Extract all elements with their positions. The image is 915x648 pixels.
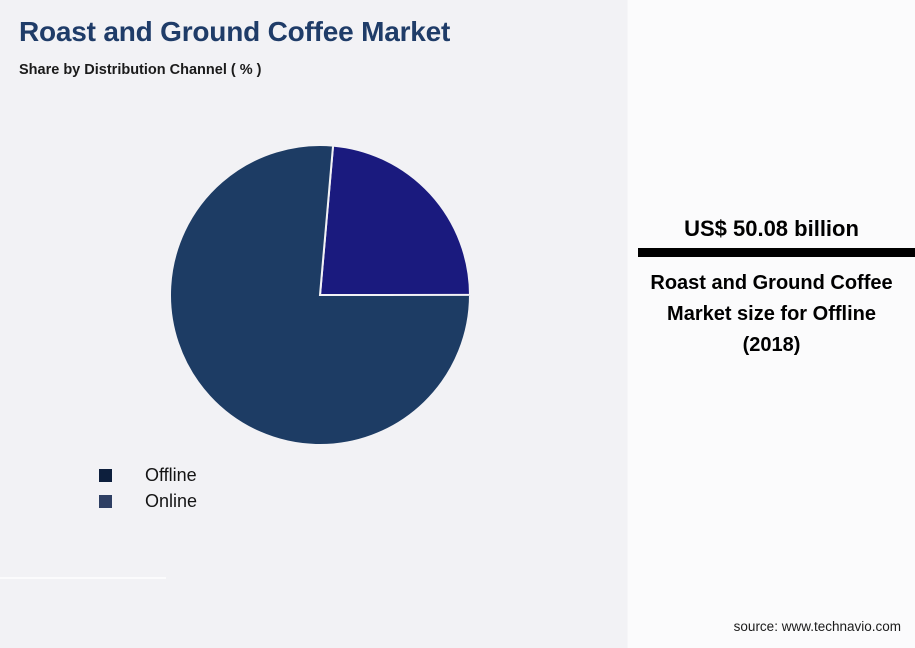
footer-divider <box>0 577 166 579</box>
chart-right-panel: US$ 50.08 billion Roast and Ground Coffe… <box>627 0 915 648</box>
kpi-description: Roast and Ground Coffee Market size for … <box>644 268 899 361</box>
chart-subtitle: Share by Distribution Channel ( % ) <box>19 62 262 78</box>
source-note: source: www.technavio.com <box>628 619 901 634</box>
kpi-value: US$ 50.08 billion <box>628 216 915 242</box>
legend-item-offline[interactable]: Offline <box>99 462 197 488</box>
kpi-underline-bar <box>638 248 915 257</box>
pie-chart <box>170 145 470 445</box>
pie-slice-online[interactable] <box>320 146 470 295</box>
legend-square-icon <box>99 495 112 508</box>
chart-canvas: Roast and Ground Coffee Market Share by … <box>0 0 915 648</box>
page-title: Roast and Ground Coffee Market <box>19 16 450 48</box>
pie-chart-svg <box>170 145 470 445</box>
legend-item-label: Offline <box>145 465 197 486</box>
chart-left-panel: Roast and Ground Coffee Market Share by … <box>0 0 627 648</box>
legend-item-online[interactable]: Online <box>99 488 197 514</box>
legend-item-label: Online <box>145 491 197 512</box>
chart-legend: Offline Online <box>99 462 197 514</box>
legend-square-icon <box>99 469 112 482</box>
